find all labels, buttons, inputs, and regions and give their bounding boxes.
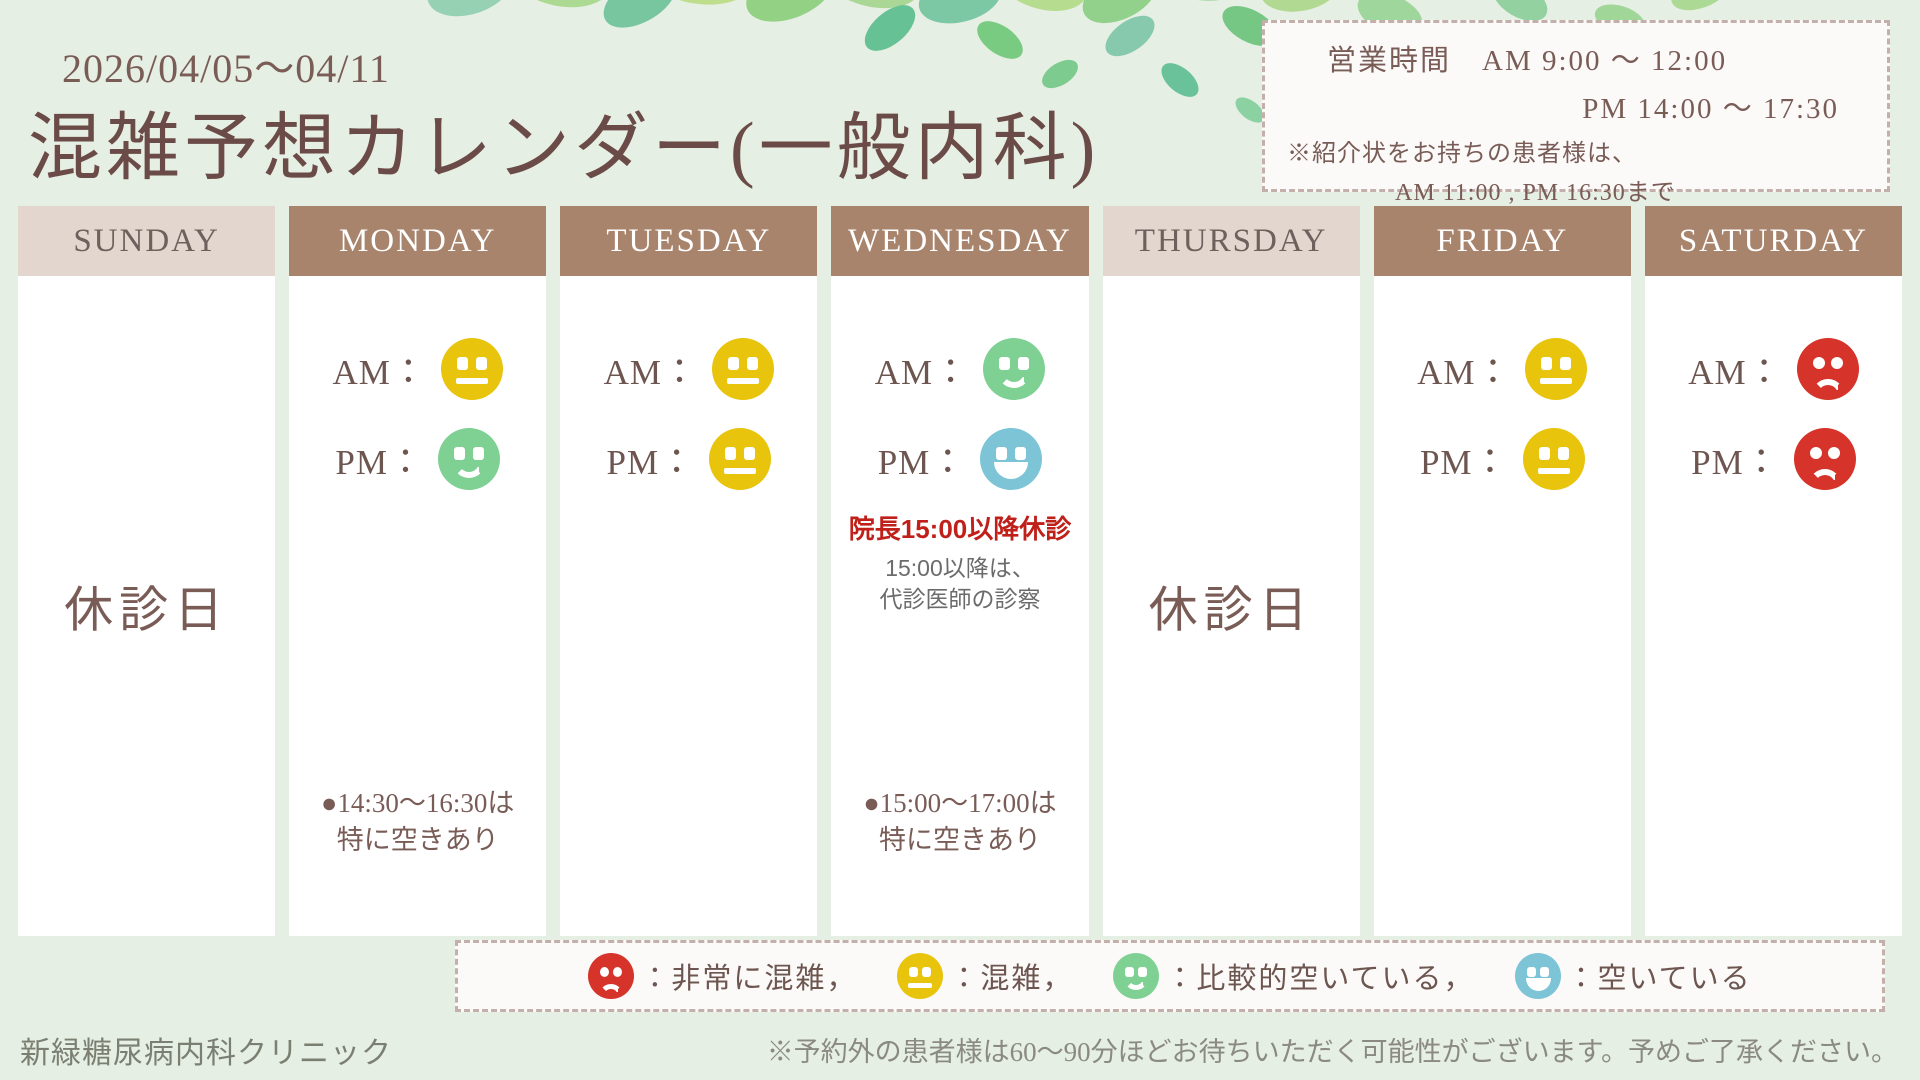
day-column-saturday: SATURDAYAM：PM： xyxy=(1645,206,1902,936)
mouth xyxy=(994,462,1028,479)
day-body-thursday: 休診日 xyxy=(1103,276,1360,936)
am-slot-row: AM： xyxy=(875,338,1045,400)
eye-right xyxy=(1831,357,1843,369)
eye-right xyxy=(473,447,484,460)
wait-time-disclaimer: ※予約外の患者様は60〜90分ほどお待ちいただく可能性がございます。予めご了承く… xyxy=(767,1030,1898,1069)
eye-right xyxy=(1560,357,1571,370)
pm-label: PM： xyxy=(335,434,424,485)
clinic-name: 新緑糖尿病内科クリニック xyxy=(20,1028,392,1072)
pm-slot-row: PM： xyxy=(1420,428,1585,490)
mouth xyxy=(1812,379,1844,396)
eye-left xyxy=(1539,447,1550,460)
mouth xyxy=(727,378,759,384)
substitute-note-line1: 15:00以降は、 xyxy=(879,553,1040,584)
eye-left xyxy=(999,357,1010,370)
eye-left xyxy=(725,447,736,460)
pm-slot-row: PM： xyxy=(607,428,772,490)
substitute-note-line2: 代診医師の診察 xyxy=(879,584,1040,615)
happy-face-icon xyxy=(980,428,1042,490)
business-hours-box: 営業時間 AM 9:00 〜 12:00 PM 14:00 〜 17:30 ※紹… xyxy=(1262,20,1890,192)
am-slot-row: AM： xyxy=(333,338,503,400)
pm-slot-row: PM： xyxy=(878,428,1043,490)
legend-label: ：非常に混雑， xyxy=(640,955,857,997)
legend-label: ：空いている xyxy=(1567,955,1752,997)
am-slot-row: AM： xyxy=(1417,338,1587,400)
day-body-sunday: 休診日 xyxy=(18,276,275,936)
neutral-face-icon xyxy=(712,338,774,400)
pm-slot-row: PM： xyxy=(335,428,500,490)
legend-label: ：比較的空いている， xyxy=(1165,955,1474,997)
availability-note-line1: ●14:30〜16:30は xyxy=(289,785,546,821)
eye-left xyxy=(600,967,609,977)
mouth xyxy=(599,984,623,997)
eye-left xyxy=(1541,357,1552,370)
congestion-calendar: SUNDAY休診日MONDAYAM：PM：●14:30〜16:30は特に空きあり… xyxy=(18,206,1902,936)
eye-right xyxy=(1540,967,1549,977)
eye-right xyxy=(1015,447,1026,460)
pm-label: PM： xyxy=(878,434,967,485)
mouth xyxy=(1526,978,1551,991)
legend-label: ：混雑， xyxy=(949,955,1073,997)
eye-right xyxy=(1558,447,1569,460)
am-slot-row: AM： xyxy=(1688,338,1858,400)
page-header: 2026/04/05〜04/11 混雑予想カレンダー(一般内科) xyxy=(0,0,1250,210)
mouth xyxy=(1809,469,1841,486)
pm-label: PM： xyxy=(1691,434,1780,485)
day-header-wednesday: WEDNESDAY xyxy=(831,206,1088,276)
eye-right xyxy=(1138,967,1147,977)
eye-right xyxy=(747,357,758,370)
date-range: 2026/04/05〜04/11 xyxy=(62,36,390,94)
day-body-tuesday: AM：PM： xyxy=(560,276,817,936)
substitute-doctor-note: 15:00以降は、代診医師の診察 xyxy=(879,553,1040,615)
closed-day-label: 休診日 xyxy=(18,571,275,642)
neutral-face-icon xyxy=(1525,338,1587,400)
availability-note-line2: 特に空きあり xyxy=(289,822,546,858)
am-label: AM： xyxy=(333,344,427,395)
eye-right xyxy=(1018,357,1029,370)
legend-item-free: ：空いている xyxy=(1515,953,1752,999)
sad-face-icon xyxy=(588,953,634,999)
am-label: AM： xyxy=(604,344,698,395)
day-header-monday: MONDAY xyxy=(289,206,546,276)
day-column-friday: FRIDAYAM：PM： xyxy=(1374,206,1631,936)
mouth xyxy=(1540,378,1572,384)
legend-box: ：非常に混雑，：混雑，：比較的空いている，：空いている xyxy=(455,940,1885,1012)
pm-label: PM： xyxy=(1420,434,1509,485)
mouth xyxy=(1124,977,1148,990)
day-header-sunday: SUNDAY xyxy=(18,206,275,276)
mouth xyxy=(1538,468,1570,474)
page-title: 混雑予想カレンダー(一般内科) xyxy=(28,88,1099,195)
eye-left xyxy=(1810,447,1822,459)
day-column-tuesday: TUESDAYAM：PM： xyxy=(560,206,817,936)
smile-face-icon xyxy=(438,428,500,490)
day-column-monday: MONDAYAM：PM：●14:30〜16:30は特に空きあり xyxy=(289,206,546,936)
availability-note-line2: 特に空きあり xyxy=(831,822,1088,858)
availability-note: ●15:00〜17:00は特に空きあり xyxy=(831,785,1088,858)
happy-face-icon xyxy=(1515,953,1561,999)
eye-left xyxy=(728,357,739,370)
legend-item-somewhat-free: ：比較的空いている， xyxy=(1113,953,1474,999)
availability-note: ●14:30〜16:30は特に空きあり xyxy=(289,785,546,858)
smile-face-icon xyxy=(1113,953,1159,999)
referral-note-line1: ※紹介状をお持ちの患者様は、 xyxy=(1287,133,1865,168)
sad-face-icon xyxy=(1794,428,1856,490)
day-body-wednesday: AM：PM：院長15:00以降休診15:00以降は、代診医師の診察●15:00〜… xyxy=(831,276,1088,936)
day-body-monday: AM：PM：●14:30〜16:30は特に空きあり xyxy=(289,276,546,936)
day-body-friday: AM：PM： xyxy=(1374,276,1631,936)
eye-left xyxy=(1125,967,1134,977)
mouth xyxy=(908,983,932,988)
pm-slot-row: PM： xyxy=(1691,428,1856,490)
eye-left xyxy=(457,357,468,370)
eye-right xyxy=(1828,447,1840,459)
eye-right xyxy=(613,967,622,977)
mouth xyxy=(456,378,488,384)
sad-face-icon xyxy=(1797,338,1859,400)
director-absence-warning: 院長15:00以降休診 xyxy=(849,514,1072,545)
availability-note-line1: ●15:00〜17:00は xyxy=(831,785,1088,821)
legend-item-crowded: ：混雑， xyxy=(897,953,1073,999)
day-column-sunday: SUNDAY休診日 xyxy=(18,206,275,936)
smile-face-icon xyxy=(983,338,1045,400)
eye-right xyxy=(922,967,931,977)
day-body-saturday: AM：PM： xyxy=(1645,276,1902,936)
pm-label: PM： xyxy=(607,434,696,485)
day-header-tuesday: TUESDAY xyxy=(560,206,817,276)
am-label: AM： xyxy=(1688,344,1782,395)
mouth xyxy=(998,371,1030,388)
referral-note-line2: AM 11:00 , PM 16:30まで xyxy=(1287,172,1865,207)
eye-left xyxy=(996,447,1007,460)
neutral-face-icon xyxy=(441,338,503,400)
day-header-thursday: THURSDAY xyxy=(1103,206,1360,276)
mouth xyxy=(453,461,485,478)
am-slot-row: AM： xyxy=(604,338,774,400)
am-label: AM： xyxy=(1417,344,1511,395)
eye-right xyxy=(476,357,487,370)
eye-left xyxy=(1527,967,1536,977)
day-header-friday: FRIDAY xyxy=(1374,206,1631,276)
neutral-face-icon xyxy=(897,953,943,999)
am-label: AM： xyxy=(875,344,969,395)
neutral-face-icon xyxy=(1523,428,1585,490)
neutral-face-icon xyxy=(709,428,771,490)
mouth xyxy=(724,468,756,474)
eye-left xyxy=(454,447,465,460)
legend-item-very-crowded: ：非常に混雑， xyxy=(588,953,857,999)
closed-day-label: 休診日 xyxy=(1103,571,1360,642)
eye-right xyxy=(744,447,755,460)
eye-left xyxy=(1813,357,1825,369)
eye-left xyxy=(909,967,918,977)
day-column-wednesday: WEDNESDAYAM：PM：院長15:00以降休診15:00以降は、代診医師の… xyxy=(831,206,1088,936)
day-column-thursday: THURSDAY休診日 xyxy=(1103,206,1360,936)
hours-am-line: 営業時間 AM 9:00 〜 12:00 xyxy=(1327,37,1865,79)
hours-pm-line: PM 14:00 〜 17:30 xyxy=(1287,85,1865,127)
day-header-saturday: SATURDAY xyxy=(1645,206,1902,276)
